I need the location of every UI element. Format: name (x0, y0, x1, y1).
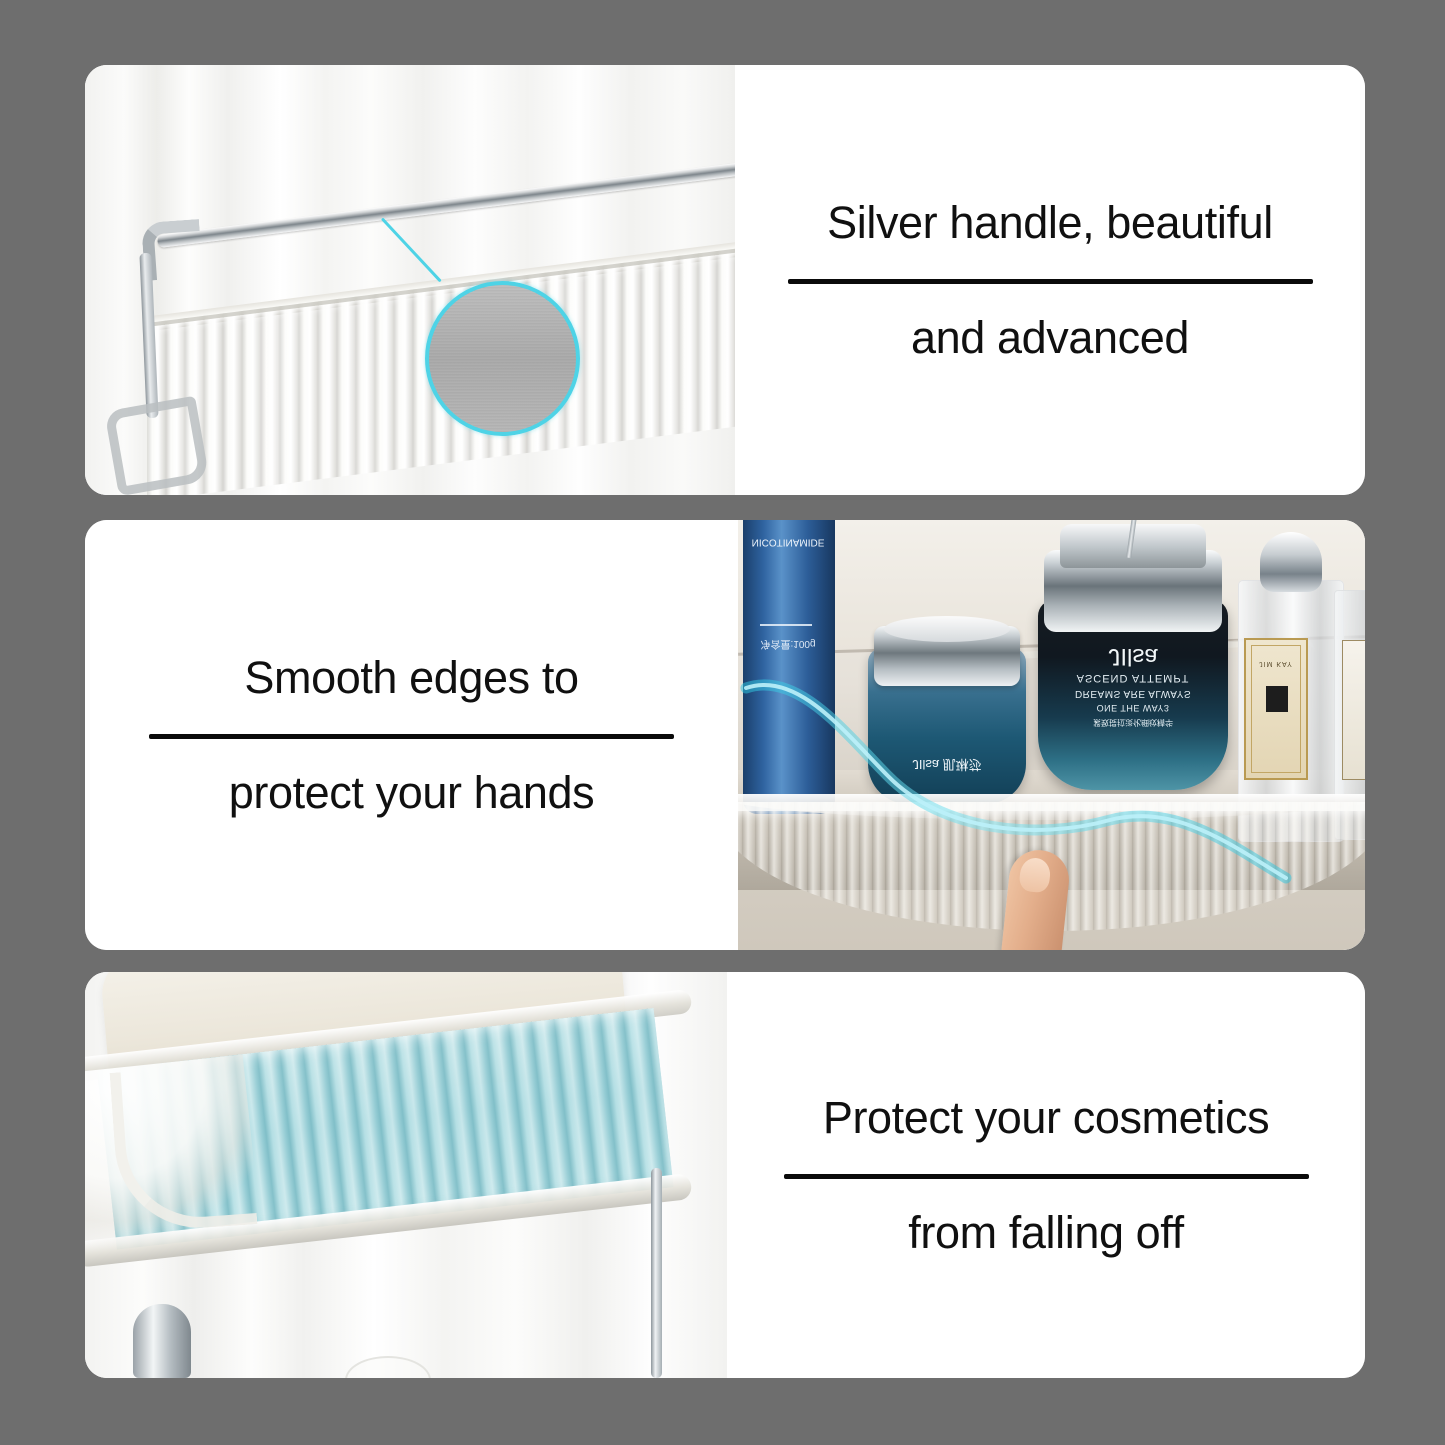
caption-block-3: Protect your cosmetics from falling off (727, 972, 1365, 1378)
feature-panel-silver-handle: Silver handle, beautiful and advanced (85, 65, 1365, 495)
brushed-metal-callout-circle (425, 281, 580, 436)
caption-line-2: from falling off (908, 1209, 1183, 1256)
caption-line-1: Smooth edges to (244, 654, 578, 701)
feature-panel-smooth-edges: Smooth edges to protect your hands NICOT… (85, 520, 1365, 950)
caption-line-1: Protect your cosmetics (823, 1094, 1269, 1141)
smooth-edge-glow-arrow (738, 520, 1365, 950)
photo-silver-handle (85, 65, 735, 495)
caption-line-2: and advanced (911, 314, 1189, 361)
chrome-support-post (651, 1168, 662, 1378)
caption-divider (784, 1174, 1309, 1179)
photo-protect-cosmetics (85, 972, 727, 1378)
caption-divider (149, 734, 674, 739)
photo-smooth-edges: NICOTINAMIDE 净含量:100g JIlsa 肌琳莎 JIlsa AS… (738, 520, 1365, 950)
feature-panel-protect-cosmetics: Protect your cosmetics from falling off (85, 972, 1365, 1378)
handle-foot-bracket (104, 396, 210, 495)
caption-line-1: Silver handle, beautiful (827, 199, 1273, 246)
caption-divider (788, 279, 1313, 284)
product-infographic: Silver handle, beautiful and advanced Sm… (0, 0, 1445, 1445)
chrome-foot (133, 1304, 191, 1378)
caption-line-2: protect your hands (229, 769, 595, 816)
caption-block-1: Silver handle, beautiful and advanced (735, 65, 1365, 495)
caption-block-2: Smooth edges to protect your hands (85, 520, 738, 950)
